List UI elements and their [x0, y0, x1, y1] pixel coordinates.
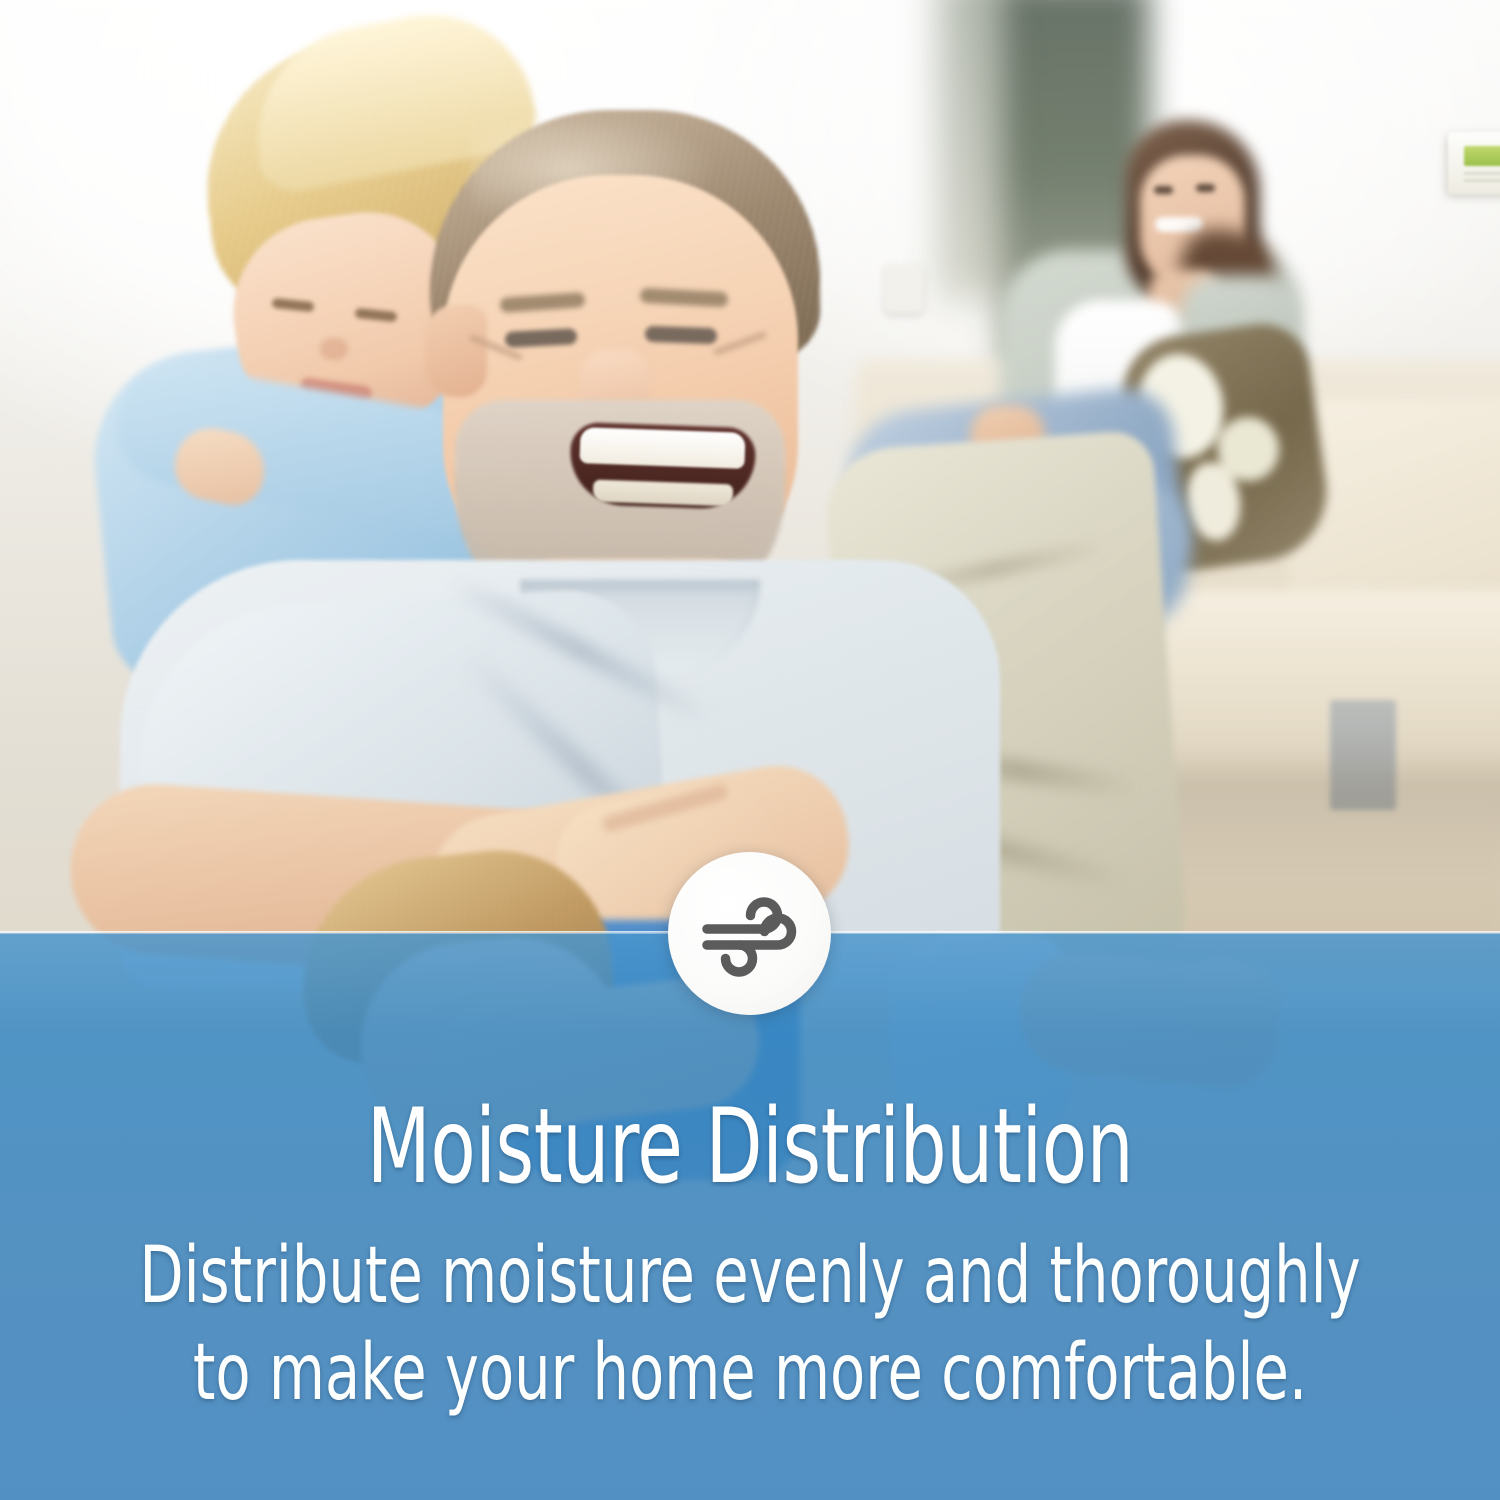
man-eye-right	[645, 326, 718, 345]
man-ear	[425, 305, 487, 397]
wind-icon	[696, 890, 804, 978]
wind-icon-badge	[668, 852, 831, 1015]
thermostat-screen	[1464, 146, 1500, 166]
wall-outlet	[885, 265, 923, 313]
subtitle-line-2: to make your home more comfortable.	[135, 1325, 1365, 1422]
woman-eye-right	[1196, 184, 1215, 192]
woman-eye-left	[1154, 186, 1173, 194]
subtitle: Distribute moisture evenly and thoroughl…	[135, 1228, 1365, 1421]
page-title: Moisture Distribution	[150, 1092, 1350, 1203]
man-upper-teeth	[579, 427, 745, 469]
woman-smile	[1155, 217, 1203, 232]
thermostat-vents	[1464, 172, 1500, 186]
boy-nose	[320, 338, 348, 360]
feature-card: Moisture Distribution Distribute moistur…	[0, 0, 1500, 1500]
subtitle-line-1: Distribute moisture evenly and thoroughl…	[135, 1228, 1365, 1325]
